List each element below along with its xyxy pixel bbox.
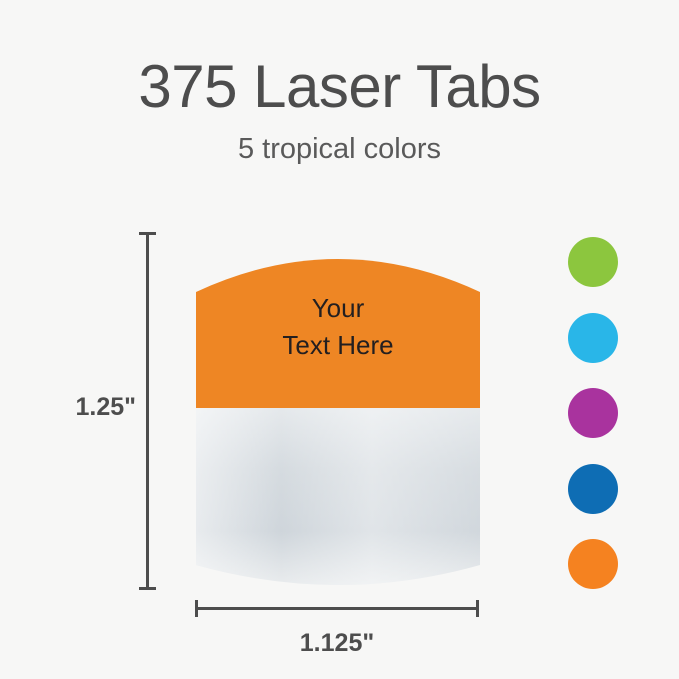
product-infographic: 375 Laser Tabs 5 tropical colors — [0, 0, 679, 679]
width-dimension-label: 1.125" — [187, 628, 487, 658]
height-dimension-label: 1.25" — [32, 392, 136, 422]
tab-product-illustration: Your Text Here — [186, 222, 490, 602]
color-swatch-list — [568, 237, 620, 589]
height-dimension-cap-bottom — [139, 587, 156, 590]
color-swatch-green — [568, 237, 618, 287]
width-dimension-cap-right — [476, 600, 479, 617]
color-swatch-blue — [568, 464, 618, 514]
tab-bottom-sheen — [196, 407, 480, 585]
tab-top-panel — [196, 259, 480, 408]
page-subtitle: 5 tropical colors — [0, 131, 679, 167]
color-swatch-magenta — [568, 388, 618, 438]
width-dimension-cap-left — [195, 600, 198, 617]
height-dimension-cap-top — [139, 232, 156, 235]
color-swatch-light-blue — [568, 313, 618, 363]
width-dimension-line — [196, 607, 479, 610]
tab-shape-graphic — [186, 222, 490, 602]
color-swatch-orange — [568, 539, 618, 589]
page-title: 375 Laser Tabs — [0, 52, 679, 122]
height-dimension-line — [146, 233, 149, 589]
